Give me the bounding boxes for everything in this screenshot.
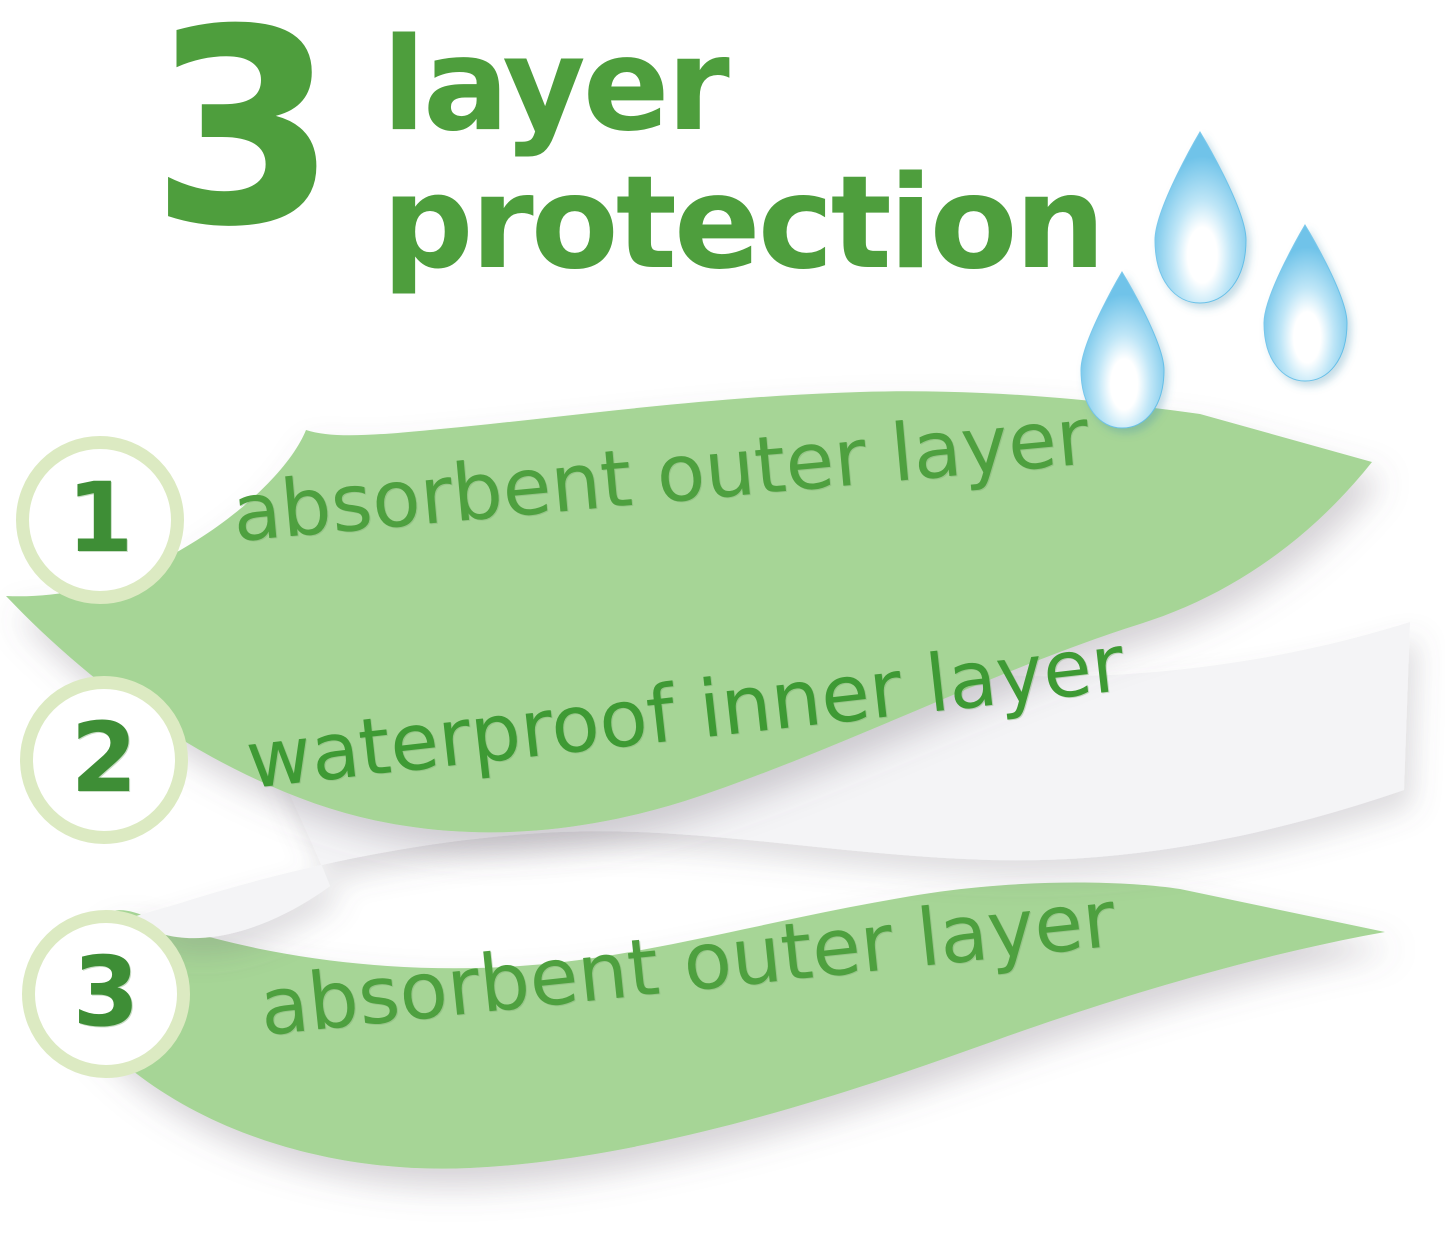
layer-badge-3: 3	[22, 910, 190, 1078]
layer-badge-1-number: 1	[67, 470, 134, 566]
three-layer-protection-infographic: 3 layer protection absorbent outer layer…	[0, 0, 1445, 1241]
layer-badge-1: 1	[16, 436, 184, 604]
water-droplet-right	[1264, 225, 1347, 381]
water-droplet-top	[1155, 132, 1246, 303]
layer-badge-2: 2	[20, 676, 188, 844]
layer-badge-2-number: 2	[71, 710, 138, 806]
water-droplet-bottom-left	[1081, 272, 1164, 428]
layers-illustration	[0, 0, 1445, 1241]
layer-badge-3-number: 3	[73, 944, 140, 1040]
